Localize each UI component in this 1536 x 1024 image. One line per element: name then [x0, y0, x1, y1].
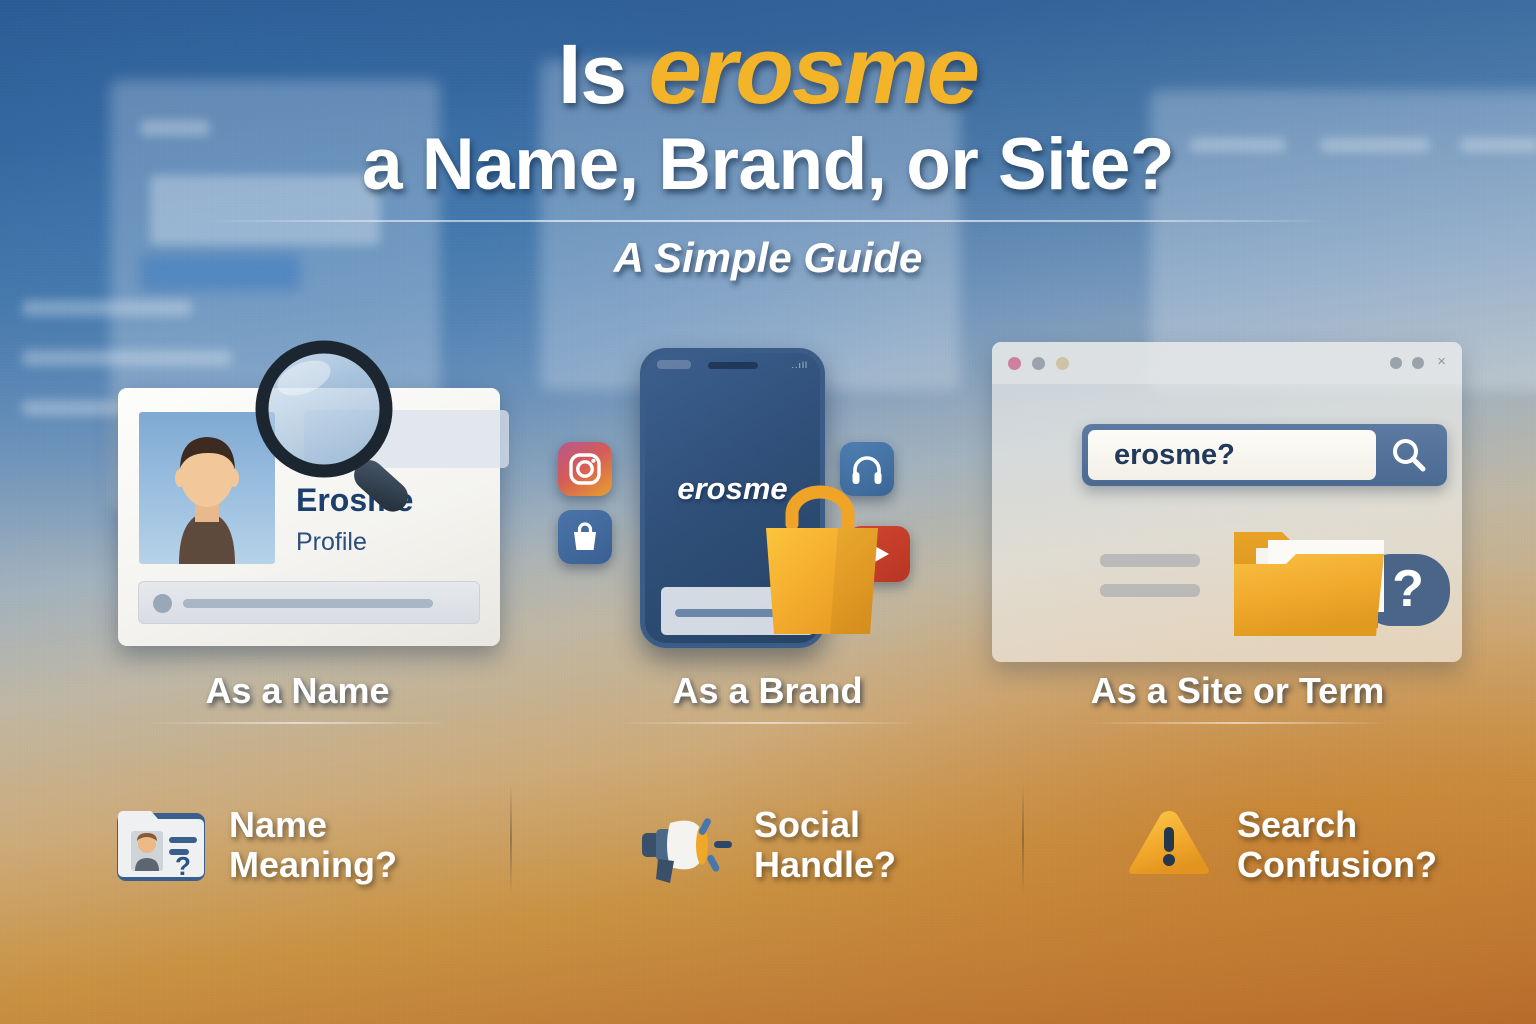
panel-label-as-a-name: As a Name — [70, 670, 525, 712]
bottom-label-line2: Handle? — [754, 845, 896, 885]
title-prefix: Is — [558, 27, 626, 121]
magnifying-glass-icon — [248, 336, 448, 536]
profile-field-bar[interactable] — [138, 581, 480, 624]
warning-triangle-icon — [1123, 803, 1215, 887]
bottom-label-social-handle: Social Handle? — [754, 805, 896, 886]
bottom-item-search-confusion[interactable]: Search Confusion? — [1024, 770, 1536, 920]
close-icon[interactable]: × — [1437, 354, 1446, 369]
panel-as-a-site-or-term[interactable]: × erosme? — [1010, 330, 1465, 730]
traffic-light-maximize-icon[interactable] — [1056, 357, 1069, 370]
profile-field-line — [183, 599, 433, 608]
panel-underline-brand — [618, 722, 918, 724]
profile-field-dot — [153, 594, 172, 613]
bottom-label-line2: Confusion? — [1237, 845, 1437, 885]
panel-as-a-name[interactable]: Erosme Profile — [70, 330, 525, 730]
phone-notch — [708, 362, 758, 369]
bottom-label-line2: Meaning? — [229, 845, 397, 885]
id-card-question-icon: ? — [115, 803, 207, 887]
panel-label-as-a-brand: As a Brand — [540, 670, 995, 712]
megaphone-icon — [640, 803, 732, 887]
phone-status-left — [657, 360, 691, 369]
bottom-label-line1: Search — [1237, 805, 1437, 845]
bottom-item-social-handle[interactable]: Social Handle? — [512, 770, 1024, 920]
maximize-icon[interactable] — [1412, 357, 1424, 369]
bottom-label-line1: Social — [754, 805, 896, 845]
title-divider — [203, 220, 1333, 222]
panel-as-a-brand[interactable]: ..ıll erosme As a Brand — [540, 330, 995, 730]
shopping-bag-icon-large — [758, 488, 894, 638]
bottom-label-search-confusion: Search Confusion? — [1237, 805, 1437, 886]
minimize-icon[interactable] — [1390, 357, 1402, 369]
phone-status-right: ..ıll — [791, 360, 808, 370]
bottom-item-name-meaning[interactable]: ? Name Meaning? — [0, 770, 512, 920]
result-placeholder-line — [1100, 584, 1200, 597]
search-bar[interactable]: erosme? — [1082, 424, 1447, 486]
search-icon[interactable] — [1381, 432, 1437, 478]
search-input[interactable]: erosme? — [1088, 430, 1376, 480]
title-brand-word: erosme — [648, 17, 978, 124]
panel-label-as-a-site-or-term: As a Site or Term — [1010, 670, 1465, 712]
instagram-icon[interactable] — [558, 442, 612, 496]
traffic-light-close-icon[interactable] — [1008, 357, 1021, 370]
result-placeholder-line — [1100, 554, 1200, 567]
panel-underline-name — [148, 722, 448, 724]
folder-icon: ? — [1230, 516, 1460, 656]
page-subtitle: A Simple Guide — [0, 234, 1536, 282]
browser-titlebar: × — [992, 342, 1462, 384]
shopping-bag-icon[interactable] — [558, 510, 612, 564]
page-title-line2: a Name, Brand, or Site? — [0, 124, 1536, 206]
bottom-label-line1: Name — [229, 805, 397, 845]
question-badge-glyph: ? — [1392, 560, 1424, 618]
title-block: Is erosme a Name, Brand, or Site? A Simp… — [0, 22, 1536, 282]
traffic-light-minimize-icon[interactable] — [1032, 357, 1045, 370]
bottom-label-name-meaning: Name Meaning? — [229, 805, 397, 886]
svg-text:?: ? — [175, 851, 191, 881]
panel-underline-site — [1088, 722, 1388, 724]
page-title-line1: Is erosme — [0, 22, 1536, 120]
bottom-feature-row: ? Name Meaning? Social Handle? — [0, 770, 1536, 920]
